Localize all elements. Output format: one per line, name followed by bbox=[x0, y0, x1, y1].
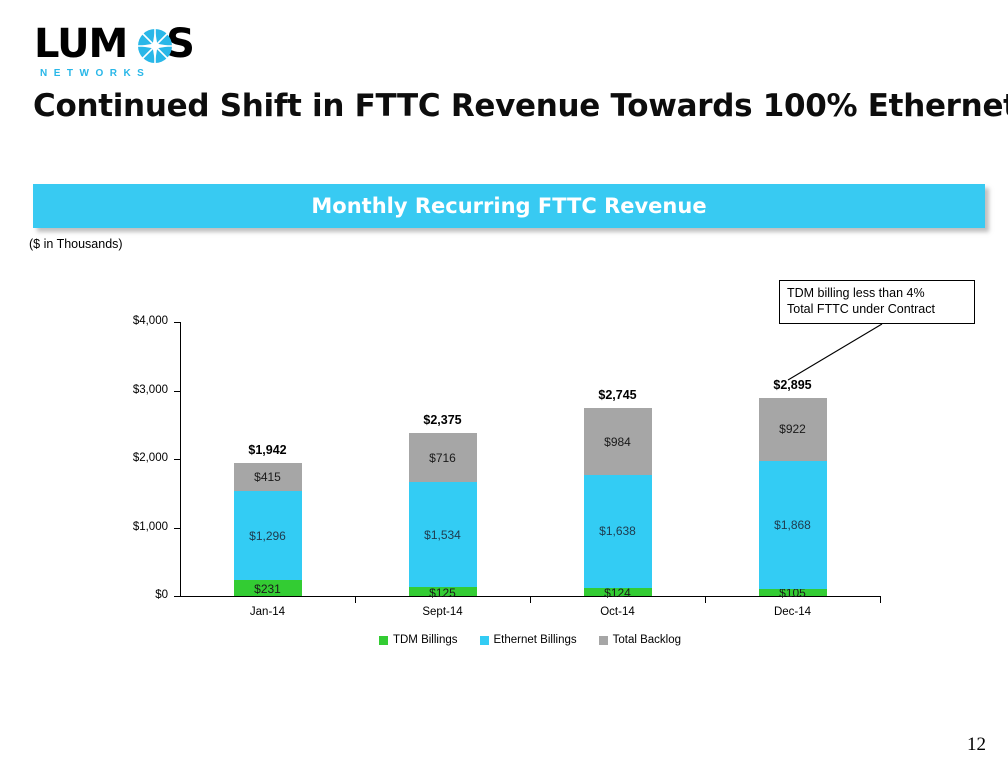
bar-total-label: $1,942 bbox=[198, 443, 338, 457]
y-axis-label: $0 bbox=[104, 589, 168, 601]
x-axis-label: Sept-14 bbox=[383, 606, 503, 618]
legend-item-total-backlog[interactable]: Total Backlog bbox=[599, 634, 681, 646]
bar-segment-label: $1,868 bbox=[774, 518, 811, 532]
starburst-icon bbox=[137, 28, 173, 64]
callout-line-2: Total FTTC under Contract bbox=[787, 301, 967, 317]
x-axis-label: Jan-14 bbox=[208, 606, 328, 618]
y-axis-label: $1,000 bbox=[104, 521, 168, 533]
bar-group[interactable]: $125$1,534$716$2,375 bbox=[409, 322, 477, 596]
bar-segment-tdm-billings[interactable]: $124 bbox=[584, 588, 652, 596]
bar-segment-label: $984 bbox=[604, 435, 631, 449]
bar-segment-total-backlog[interactable]: $984 bbox=[584, 408, 652, 475]
legend-swatch bbox=[379, 636, 388, 645]
y-axis-label: $3,000 bbox=[104, 384, 168, 396]
callout-line-1: TDM billing less than 4% bbox=[787, 285, 967, 301]
page-number: 12 bbox=[967, 734, 986, 756]
legend-item-ethernet-billings[interactable]: Ethernet Billings bbox=[480, 634, 577, 646]
logo-subtext: NETWORKS bbox=[40, 68, 150, 79]
bar-segment-ethernet-billings[interactable]: $1,868 bbox=[759, 461, 827, 589]
callout-box: TDM billing less than 4% Total FTTC unde… bbox=[779, 280, 975, 324]
legend-label: Total Backlog bbox=[613, 634, 681, 646]
bar-segment-label: $1,534 bbox=[424, 528, 461, 542]
x-axis-tick bbox=[880, 596, 881, 603]
bar-segment-ethernet-billings[interactable]: $1,638 bbox=[584, 475, 652, 587]
bar-segment-total-backlog[interactable]: $922 bbox=[759, 398, 827, 461]
bar-segment-label: $716 bbox=[429, 451, 456, 465]
bar-group[interactable]: $124$1,638$984$2,745 bbox=[584, 322, 652, 596]
bar-group[interactable]: $105$1,868$922$2,895 bbox=[759, 322, 827, 596]
bar-segment-tdm-billings[interactable]: $125 bbox=[409, 587, 477, 596]
y-axis-tick bbox=[174, 596, 181, 597]
y-axis-label: $4,000 bbox=[104, 315, 168, 327]
legend-swatch bbox=[480, 636, 489, 645]
bar-segment-label: $922 bbox=[779, 422, 806, 436]
units-note: ($ in Thousands) bbox=[29, 237, 123, 251]
page-title: Continued Shift in FTTC Revenue Towards … bbox=[33, 88, 973, 124]
bar-segment-ethernet-billings[interactable]: $1,534 bbox=[409, 482, 477, 587]
chart-legend: TDM BillingsEthernet BillingsTotal Backl… bbox=[180, 634, 880, 646]
legend-label: TDM Billings bbox=[393, 634, 458, 646]
x-axis-tick bbox=[355, 596, 356, 603]
bar-total-label: $2,375 bbox=[373, 413, 513, 427]
legend-label: Ethernet Billings bbox=[494, 634, 577, 646]
bar-segment-tdm-billings[interactable]: $231 bbox=[234, 580, 302, 596]
lumos-networks-logo: LUM S NETWORKS bbox=[34, 24, 214, 82]
bar-segment-ethernet-billings[interactable]: $1,296 bbox=[234, 491, 302, 580]
bar-total-label: $2,895 bbox=[723, 378, 863, 392]
bar-segment-label: $1,638 bbox=[599, 524, 636, 538]
legend-item-tdm-billings[interactable]: TDM Billings bbox=[379, 634, 458, 646]
banner-title: Monthly Recurring FTTC Revenue bbox=[311, 194, 706, 218]
bar-group[interactable]: $231$1,296$415$1,942 bbox=[234, 322, 302, 596]
y-axis-label: $2,000 bbox=[104, 452, 168, 464]
bar-segment-label: $125 bbox=[429, 586, 456, 600]
bar-segment-total-backlog[interactable]: $415 bbox=[234, 463, 302, 491]
x-axis-label: Oct-14 bbox=[558, 606, 678, 618]
chart-plot-area: $231$1,296$415$1,942$125$1,534$716$2,375… bbox=[180, 322, 880, 596]
section-banner: Monthly Recurring FTTC Revenue bbox=[33, 184, 985, 228]
bar-total-label: $2,745 bbox=[548, 388, 688, 402]
bar-segment-label: $1,296 bbox=[249, 529, 286, 543]
bar-segment-total-backlog[interactable]: $716 bbox=[409, 433, 477, 482]
bar-segment-label: $231 bbox=[254, 582, 281, 596]
x-axis-tick bbox=[530, 596, 531, 603]
x-axis-tick bbox=[705, 596, 706, 603]
legend-swatch bbox=[599, 636, 608, 645]
x-axis-label: Dec-14 bbox=[733, 606, 853, 618]
bar-segment-label: $415 bbox=[254, 470, 281, 484]
bar-segment-label: $124 bbox=[604, 586, 631, 600]
bar-segment-tdm-billings[interactable]: $105 bbox=[759, 589, 827, 596]
